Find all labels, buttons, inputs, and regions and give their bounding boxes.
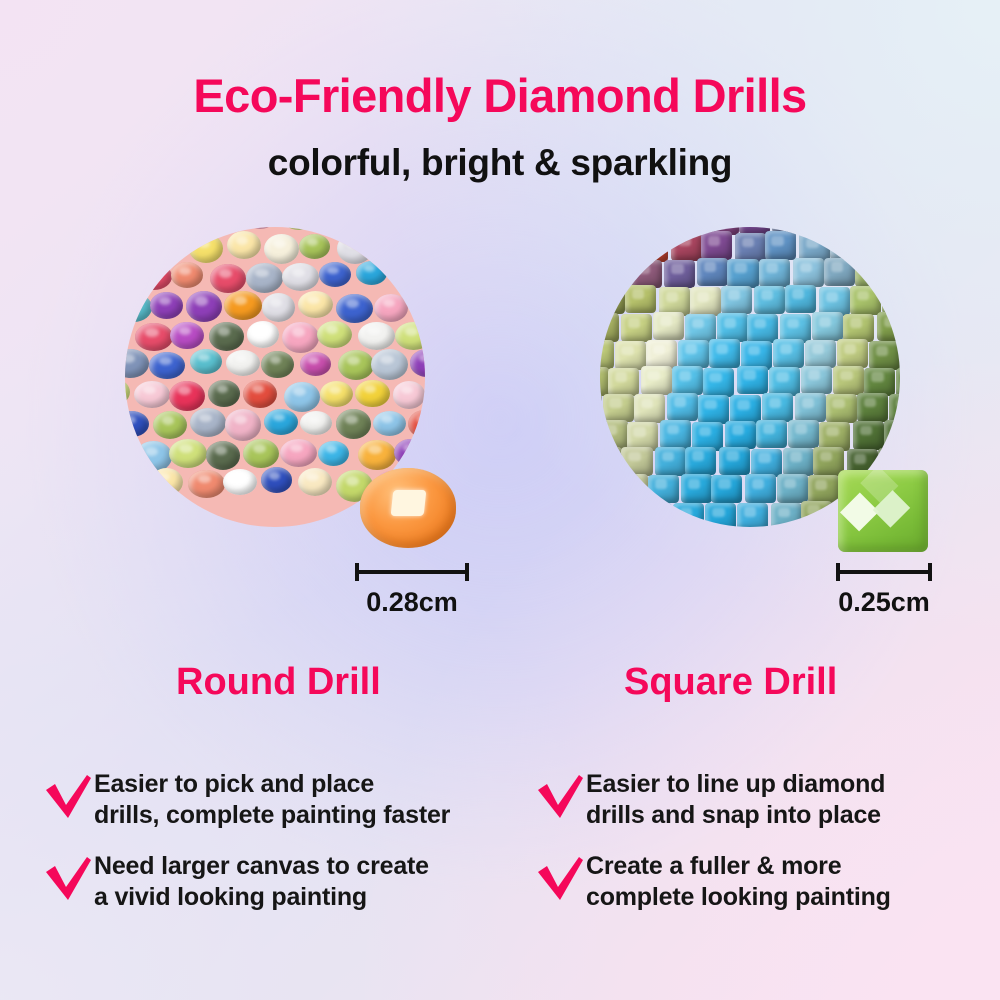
square-measurement: 0.25cm: [836, 563, 932, 618]
measurement-cap-right: [465, 563, 469, 581]
check-icon: [42, 852, 94, 906]
square-drill-sample: [838, 470, 928, 552]
check-icon: [42, 770, 94, 824]
list-item-text: Easier to line up diamond drills and sna…: [586, 768, 885, 830]
list-item-text: Create a fuller & more complete looking …: [586, 850, 891, 912]
measurement-line: [836, 570, 932, 574]
list-item-text: Easier to pick and place drills, complet…: [94, 768, 450, 830]
square-drill-heading: Square Drill: [624, 661, 837, 704]
infographic-page: Eco-Friendly Diamond Drills colorful, br…: [0, 0, 1000, 1000]
measurement-cap-right: [928, 563, 932, 581]
bullet-line-2: complete looking painting: [586, 882, 891, 913]
round-drill-bullets: Easier to pick and place drills, complet…: [42, 768, 512, 932]
page-title: Eco-Friendly Diamond Drills: [0, 68, 1000, 123]
round-drill-facet: [390, 490, 425, 516]
round-measurement-label: 0.28cm: [355, 587, 469, 618]
check-icon: [534, 770, 586, 824]
bullet-line-2: drills and snap into place: [586, 800, 885, 831]
measurement-bar: [836, 563, 932, 579]
square-drill-facet-left: [840, 492, 879, 531]
bullet-line-1: Easier to line up diamond: [586, 769, 885, 800]
list-item: Need larger canvas to create a vivid loo…: [42, 850, 512, 912]
check-icon: [534, 852, 586, 906]
list-item: Easier to line up diamond drills and sna…: [534, 768, 1000, 830]
list-item: Easier to pick and place drills, complet…: [42, 768, 512, 830]
bullet-line-2: a vivid looking painting: [94, 882, 429, 913]
bullet-line-1: Create a fuller & more: [586, 851, 891, 882]
round-drill-sample: [360, 468, 456, 548]
round-drill-heading: Round Drill: [176, 661, 381, 704]
measurement-bar: [355, 563, 469, 579]
bullet-line-1: Easier to pick and place: [94, 769, 450, 800]
square-drill-bullets: Easier to line up diamond drills and sna…: [534, 768, 1000, 932]
page-subtitle: colorful, bright & sparkling: [0, 142, 1000, 184]
list-item-text: Need larger canvas to create a vivid loo…: [94, 850, 429, 912]
list-item: Create a fuller & more complete looking …: [534, 850, 1000, 912]
bullet-line-1: Need larger canvas to create: [94, 851, 429, 882]
round-measurement: 0.28cm: [355, 563, 469, 618]
square-measurement-label: 0.25cm: [836, 587, 932, 618]
measurement-line: [355, 570, 469, 574]
bullet-line-2: drills, complete painting faster: [94, 800, 450, 831]
